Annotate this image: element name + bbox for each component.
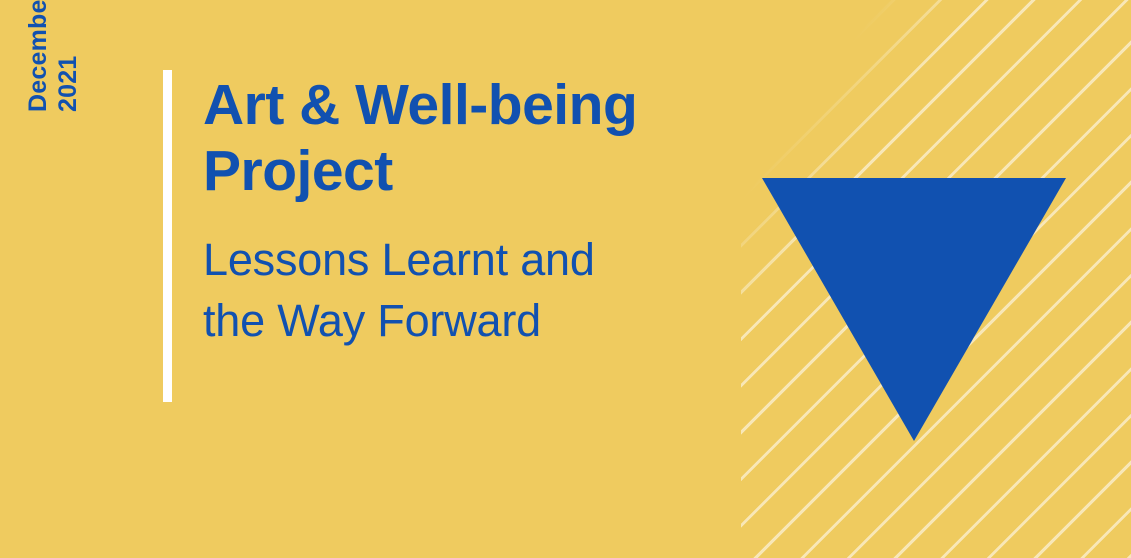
date-block: December 2021 (0, 60, 160, 290)
date-rotated-text: December 2021 (24, 0, 83, 112)
date-month: December (24, 0, 54, 112)
cover-text-block: Art & Well-being Project Lessons Learnt … (203, 72, 723, 352)
vertical-divider (163, 70, 172, 402)
cover-page: December 2021 Art & Well-being Project L… (0, 0, 1131, 558)
page-title: Art & Well-being Project (203, 72, 723, 204)
downward-triangle-icon (762, 178, 1066, 441)
date-year: 2021 (54, 0, 84, 112)
page-subtitle: Lessons Learnt and the Way Forward (203, 230, 723, 352)
